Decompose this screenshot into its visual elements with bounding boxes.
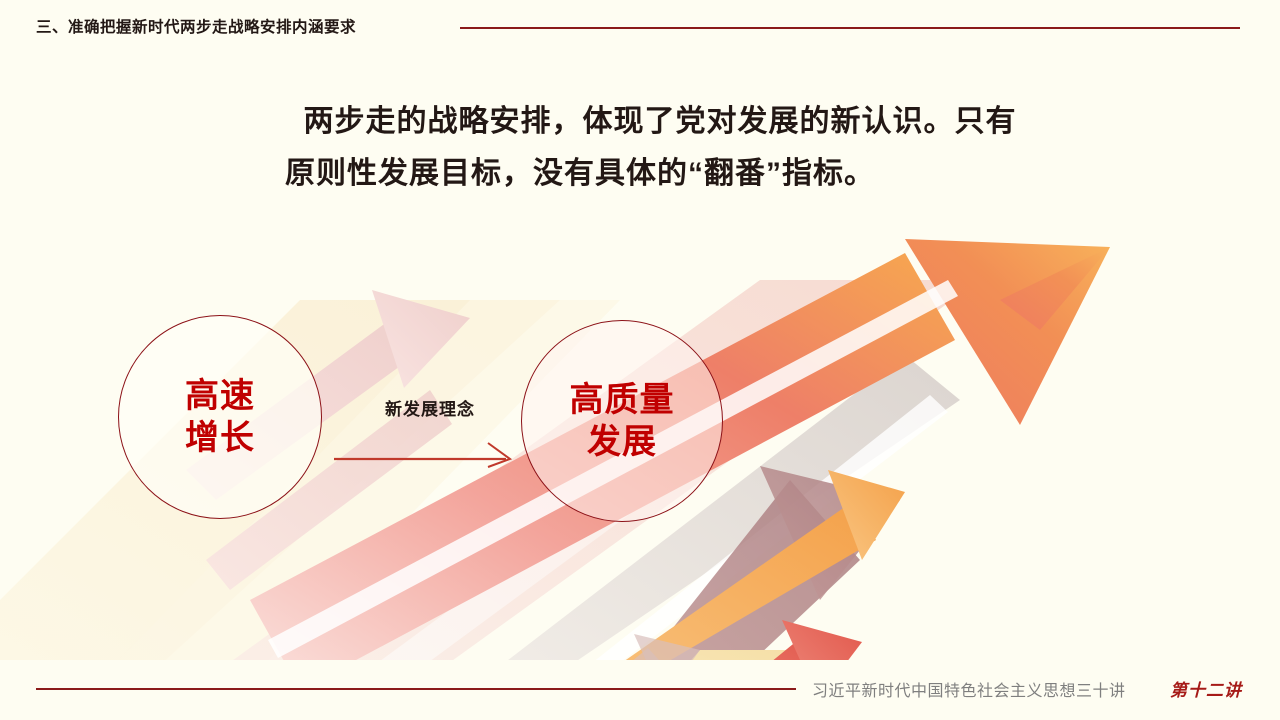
footer-divider <box>36 688 796 690</box>
slide-header: 三、准确把握新时代两步走战略安排内涵要求 <box>0 0 1280 56</box>
footer-series-title: 习近平新时代中国特色社会主义思想三十讲 <box>812 677 1126 701</box>
slide-canvas: 三、准确把握新时代两步走战略安排内涵要求 两步走的战略安排，体现了党对发展的新认… <box>0 0 1280 720</box>
header-divider <box>460 27 1240 29</box>
page-title: 三、准确把握新时代两步走战略安排内涵要求 <box>36 15 356 37</box>
footer-lecture-number: 第十二讲 <box>1170 676 1242 701</box>
diagram-node-high-speed-growth[interactable]: 高速 增长 <box>118 315 322 519</box>
slide-footer: 习近平新时代中国特色社会主义思想三十讲 第十二讲 <box>0 660 1280 720</box>
main-statement-line-2: 原则性发展目标，没有具体的“翻番”指标。 <box>0 148 1280 200</box>
node-label-line-2: 发展 <box>587 423 657 461</box>
main-statement: 两步走的战略安排，体现了党对发展的新认识。只有 原则性发展目标，没有具体的“翻番… <box>0 96 1280 200</box>
node-label-line-1: 高速 <box>185 377 255 415</box>
diagram-node-high-quality-development[interactable]: 高质量 发展 <box>521 320 723 522</box>
node-label-line-1: 高质量 <box>570 381 675 419</box>
connector-label: 新发展理念 <box>330 395 530 420</box>
node-label-high-speed-growth: 高速 增长 <box>185 375 255 459</box>
diagram-connector: 新发展理念 <box>330 395 530 475</box>
node-label-high-quality-development: 高质量 发展 <box>570 379 675 463</box>
main-statement-line-1: 两步走的战略安排，体现了党对发展的新认识。只有 <box>0 96 1280 148</box>
node-label-line-2: 增长 <box>185 419 255 457</box>
arrow-right-icon <box>330 437 530 473</box>
